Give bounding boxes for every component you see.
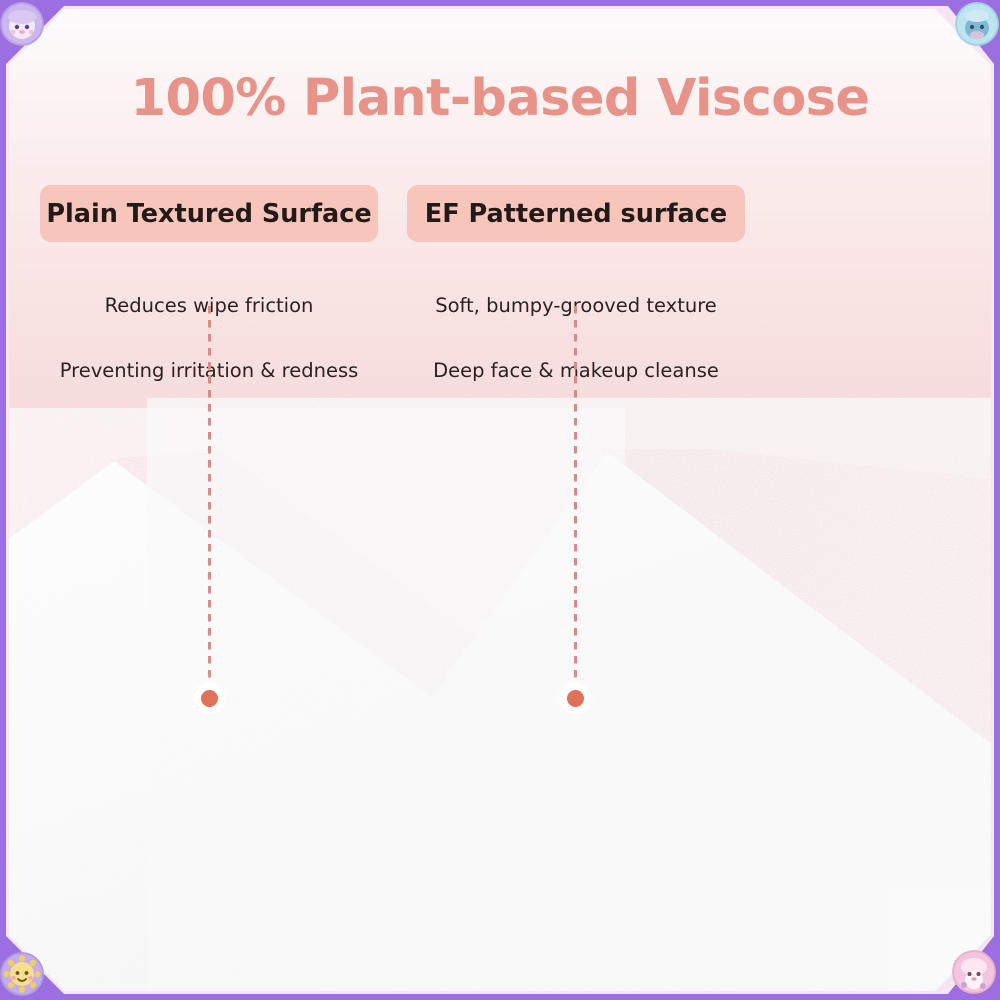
connector-line-plain: [208, 306, 211, 684]
page-title: 100% Plant-based Viscose: [9, 69, 991, 128]
product-photo: [9, 9, 991, 991]
dot-marker-ef: [567, 690, 584, 707]
poster-card: 100% Plant-based Viscose Plain Textured …: [9, 9, 991, 991]
dot-marker-plain: [201, 690, 218, 707]
purple-character-sticker-icon: [0, 2, 44, 46]
poster-canvas: 100% Plant-based Viscose Plain Textured …: [0, 0, 1000, 1000]
blue-character-sticker-icon: [955, 2, 999, 46]
connector-line-ef: [574, 306, 577, 684]
yellow-sun-character-sticker-icon: [0, 952, 44, 996]
callout-badge-ef: EF Patterned surface: [407, 185, 745, 242]
callout-badge-plain: Plain Textured Surface: [40, 185, 378, 242]
pink-character-sticker-icon: [952, 950, 996, 994]
